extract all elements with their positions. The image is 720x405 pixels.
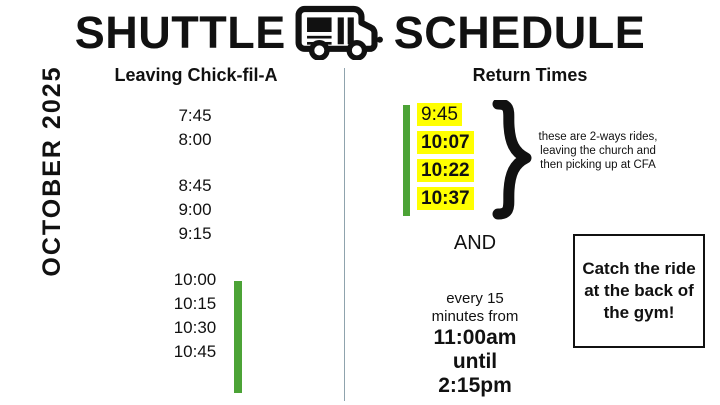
column-header-leaving: Leaving Chick-fil-A (86, 65, 306, 86)
return-time: 10:22 (417, 159, 474, 182)
departure-time: 7:45 (150, 104, 240, 128)
and-label: AND (400, 232, 550, 255)
departure-time: 9:15 (150, 222, 240, 246)
column-divider (344, 68, 345, 401)
frequency-end: 2:15pm (395, 374, 555, 398)
departure-group-1: 7:45 8:00 (150, 104, 240, 152)
month-label: OCTOBER 2025 (35, 31, 69, 311)
frequency-line-2: minutes from (395, 308, 555, 326)
callout-box: Catch the ride at the back of the gym! (573, 234, 705, 348)
frequency-block: every 15 minutes from 11:00am until 2:15… (395, 290, 555, 398)
frequency-connector: until (395, 350, 555, 374)
title-word-schedule: SCHEDULE (394, 10, 646, 55)
departure-time: 9:00 (150, 198, 240, 222)
frequency-start: 11:00am (395, 326, 555, 350)
departure-group-3: 10:00 10:15 10:30 10:45 (150, 268, 240, 364)
title-word-shuttle: SHUTTLE (75, 10, 286, 55)
departure-time: 8:45 (150, 174, 240, 198)
green-bar-marker-right (403, 105, 410, 216)
return-time-row: 10:37 (417, 187, 492, 211)
departure-group-2: 8:45 9:00 9:15 (150, 174, 240, 246)
return-time-row: 10:07 (417, 131, 492, 155)
frequency-line-1: every 15 (395, 290, 555, 308)
departure-times-list: 7:45 8:00 8:45 9:00 9:15 10:00 10:15 10:… (150, 104, 240, 364)
shuttle-schedule-poster: SHUTTLE SCHEDULE OCTOBER 2025 Leaving Ch… (0, 0, 720, 405)
two-way-rides-note: these are 2-ways rides, leaving the chur… (528, 130, 668, 172)
return-time: 10:37 (417, 187, 474, 210)
departure-time: 10:45 (150, 340, 240, 364)
poster-title: SHUTTLE SCHEDULE (0, 2, 720, 62)
return-time-row: 9:45 (417, 103, 492, 127)
return-time: 9:45 (417, 103, 462, 126)
green-bar-marker-left (234, 281, 242, 393)
departure-time: 8:00 (150, 128, 240, 152)
return-time-row: 10:22 (417, 159, 492, 183)
departure-time: 10:15 (150, 292, 240, 316)
return-time: 10:07 (417, 131, 474, 154)
bus-icon (294, 4, 386, 60)
column-header-return: Return Times (440, 65, 620, 86)
departure-time: 10:30 (150, 316, 240, 340)
return-times-list: 9:45 10:07 10:22 10:37 (417, 103, 492, 211)
departure-time: 10:00 (150, 268, 240, 292)
callout-text: Catch the ride at the back of the gym! (575, 258, 703, 324)
